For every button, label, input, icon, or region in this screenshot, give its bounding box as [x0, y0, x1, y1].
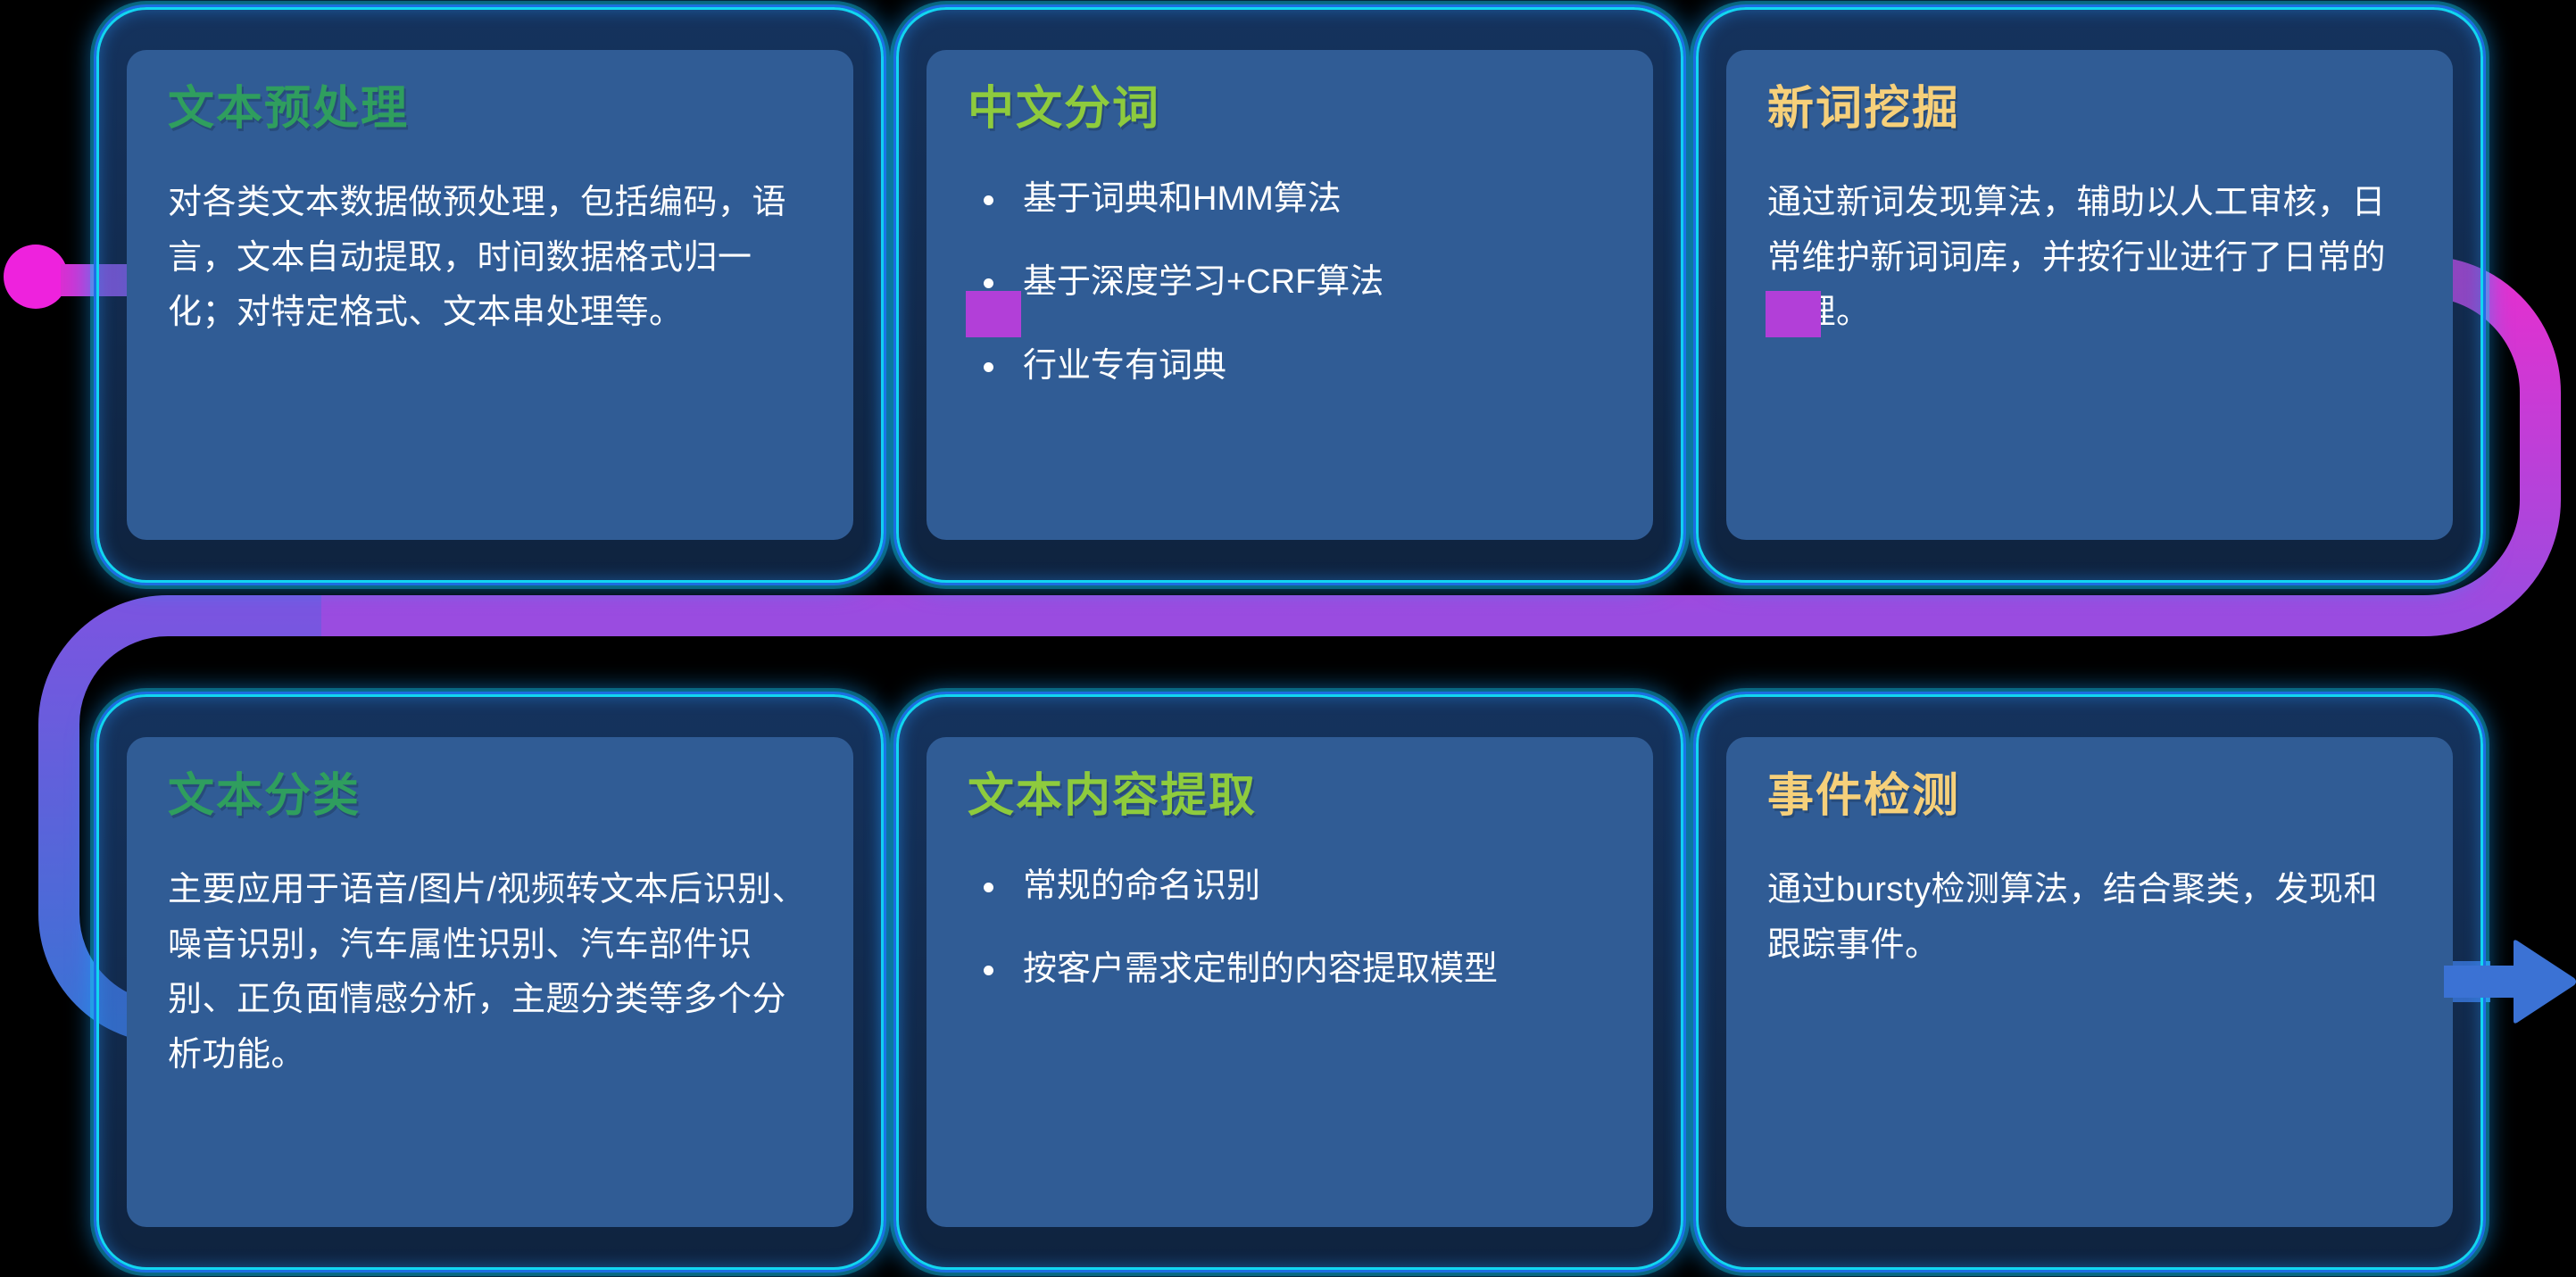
card-content: 文本预处理 对各类文本数据做预处理，包括编码，语言，文本自动提取，时间数据格式归… — [127, 50, 853, 540]
list-item: 常规的命名识别 — [968, 863, 1612, 910]
card-content: 中文分词 基于词典和HMM算法 基于深度学习+CRF算法 行业专有词典 — [927, 50, 1653, 540]
card-content: 文本内容提取 常规的命名识别 按客户需求定制的内容提取模型 — [927, 737, 1653, 1227]
card-row-top: 文本预处理 对各类文本数据做预处理，包括编码，语言，文本自动提取，时间数据格式归… — [96, 7, 2496, 583]
card-text-content-extraction[interactable]: 文本内容提取 常规的命名识别 按客户需求定制的内容提取模型 — [896, 694, 1683, 1270]
card-event-detection[interactable]: 事件检测 通过bursty检测算法，结合聚类，发现和跟踪事件。 — [1696, 694, 2483, 1270]
card-text-classification[interactable]: 文本分类 主要应用于语音/图片/视频转文本后识别、噪音识别，汽车属性识别、汽车部… — [96, 694, 884, 1270]
diagram-canvas: 文本预处理 对各类文本数据做预处理，包括编码，语言，文本自动提取，时间数据格式归… — [0, 0, 2576, 1277]
card-title: 事件检测 — [1767, 771, 2412, 822]
list-item: 按客户需求定制的内容提取模型 — [968, 946, 1612, 993]
card-paragraph: 通过新词发现算法，辅助以人工审核，日常维护新词词库，并按行业进行了日常的整理。 — [1767, 176, 2412, 341]
card-content: 事件检测 通过bursty检测算法，结合聚类，发现和跟踪事件。 — [1726, 737, 2453, 1227]
card-bullet-list: 基于词典和HMM算法 基于深度学习+CRF算法 行业专有词典 — [968, 176, 1612, 390]
list-item: 基于深度学习+CRF算法 — [968, 259, 1612, 306]
card-title: 文本预处理 — [168, 84, 812, 135]
card-title: 新词挖掘 — [1767, 84, 2412, 135]
connector-nub-1 — [966, 291, 1021, 337]
card-paragraph: 主要应用于语音/图片/视频转文本后识别、噪音识别，汽车属性识别、汽车部件识别、正… — [168, 863, 812, 1082]
card-bullet-list: 常规的命名识别 按客户需求定制的内容提取模型 — [968, 863, 1612, 993]
card-text-preprocessing[interactable]: 文本预处理 对各类文本数据做预处理，包括编码，语言，文本自动提取，时间数据格式归… — [96, 7, 884, 583]
card-content: 新词挖掘 通过新词发现算法，辅助以人工审核，日常维护新词词库，并按行业进行了日常… — [1726, 50, 2453, 540]
card-paragraph: 对各类文本数据做预处理，包括编码，语言，文本自动提取，时间数据格式归一化；对特定… — [168, 176, 812, 341]
list-item: 基于词典和HMM算法 — [968, 176, 1612, 223]
card-paragraph: 通过bursty检测算法，结合聚类，发现和跟踪事件。 — [1767, 863, 2412, 973]
card-title: 中文分词 — [968, 84, 1612, 135]
list-item: 行业专有词典 — [968, 343, 1612, 390]
card-row-bottom: 文本分类 主要应用于语音/图片/视频转文本后识别、噪音识别，汽车属性识别、汽车部… — [96, 694, 2483, 1270]
connector-nub-2 — [1766, 291, 1821, 337]
card-content: 文本分类 主要应用于语音/图片/视频转文本后识别、噪音识别，汽车属性识别、汽车部… — [127, 737, 853, 1227]
entry-dot-icon — [4, 245, 68, 309]
exit-arrow-icon — [2444, 939, 2576, 1024]
card-title: 文本分类 — [168, 771, 812, 822]
card-title: 文本内容提取 — [968, 771, 1612, 822]
